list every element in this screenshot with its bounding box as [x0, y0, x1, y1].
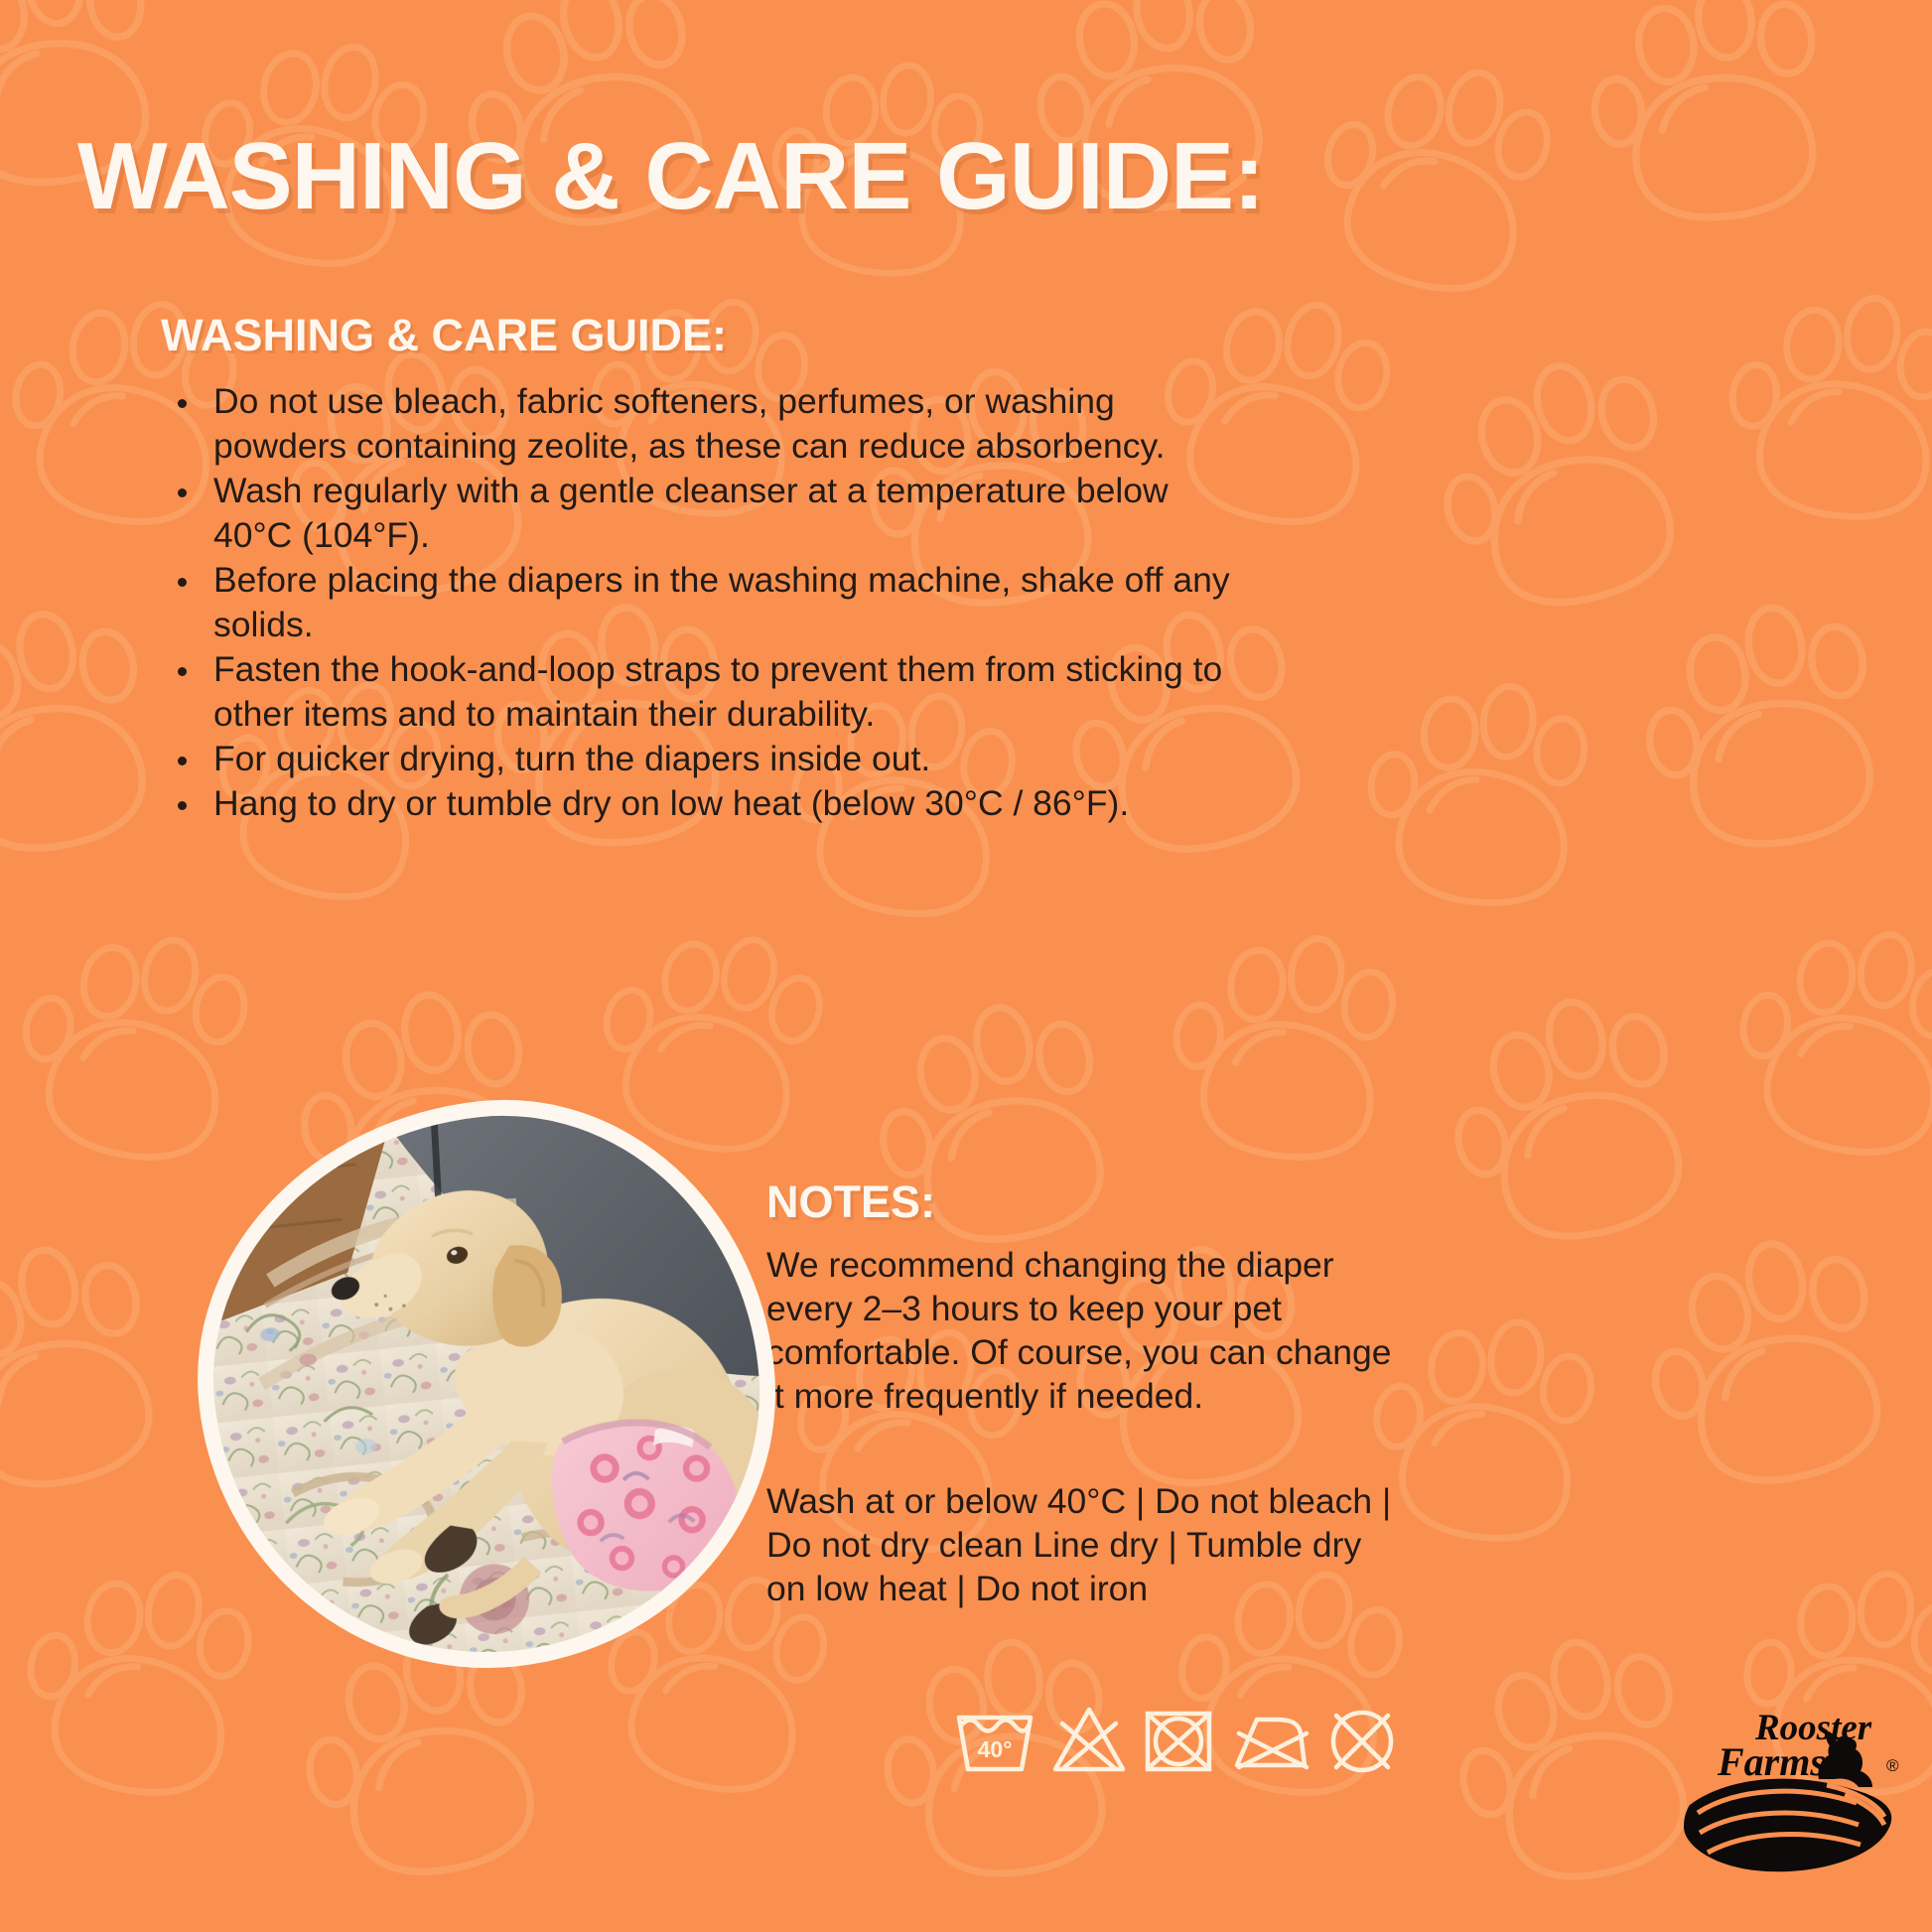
washing-care-guide-page: WASHING & CARE GUIDE: WASHING & CARE GUI… [0, 0, 1932, 1932]
logo-trademark-symbol: ® [1886, 1756, 1899, 1775]
product-photo [199, 1102, 774, 1668]
laundry-care-symbols-row: 40° [953, 1700, 1398, 1777]
do-not-bleach-icon [1050, 1700, 1128, 1777]
do-not-tumble-dry-icon [1142, 1700, 1215, 1777]
dog-wearing-diaper-illustration [188, 1091, 784, 1679]
list-item: Do not use bleach, fabric softeners, per… [164, 379, 1246, 469]
wash-temperature-label: 40° [978, 1736, 1013, 1762]
wash-40-icon: 40° [953, 1700, 1036, 1777]
rooster-farms-logo: Rooster Farms ® [1660, 1688, 1908, 1881]
list-item: Fasten the hook-and-loop straps to preve… [164, 647, 1246, 737]
notes-care-summary-text: Wash at or below 40°C | Do not bleach | … [766, 1479, 1402, 1610]
section-title-washing-care: WASHING & CARE GUIDE: [161, 310, 727, 361]
washing-care-bullet-list: Do not use bleach, fabric softeners, per… [164, 379, 1246, 826]
list-item: Wash regularly with a gentle cleanser at… [164, 469, 1246, 558]
list-item: Hang to dry or tumble dry on low heat (b… [164, 781, 1246, 826]
logo-text-farms: Farms [1717, 1739, 1826, 1784]
photo-image-clip [188, 1091, 784, 1679]
do-not-iron-icon [1229, 1700, 1312, 1777]
notes-body-text: We recommend changing the diaper every 2… [766, 1243, 1402, 1418]
rooster-farms-logo-mark: Rooster Farms ® [1660, 1688, 1908, 1881]
notes-title: NOTES: [766, 1176, 935, 1228]
list-item: Before placing the diapers in the washin… [164, 558, 1246, 647]
do-not-dry-clean-icon [1326, 1700, 1398, 1777]
page-title: WASHING & CARE GUIDE: [77, 129, 1264, 224]
list-item: For quicker drying, turn the diapers ins… [164, 737, 1246, 781]
